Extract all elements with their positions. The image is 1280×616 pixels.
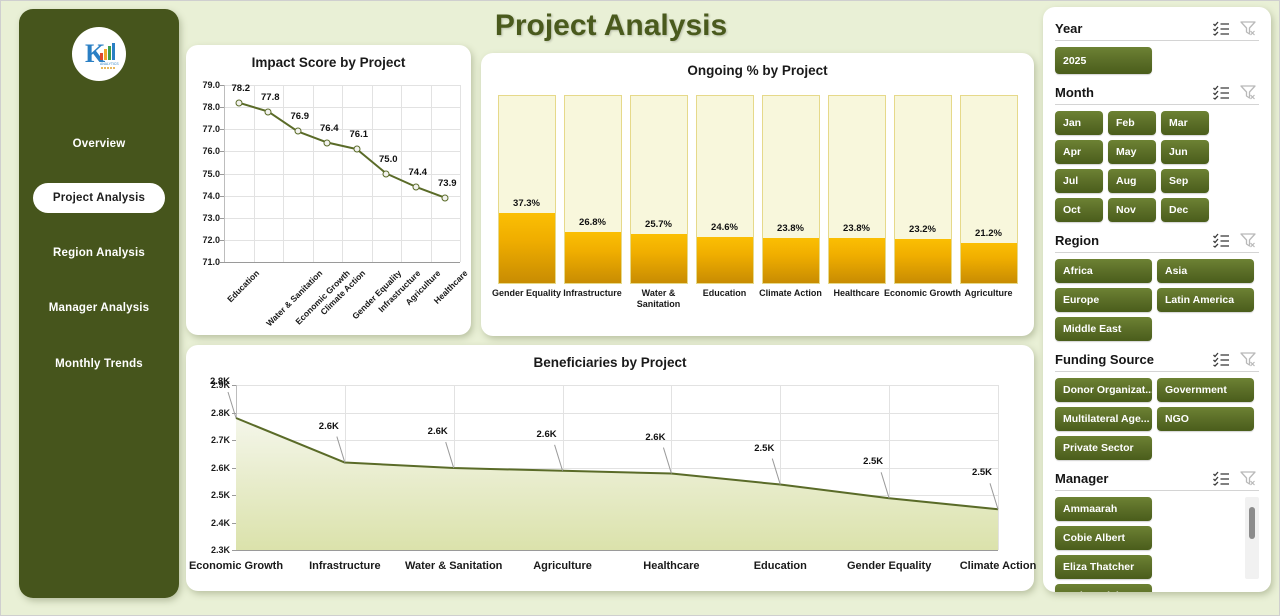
slicer-option-mar[interactable]: Mar [1161,111,1209,135]
slicer-options: AmmaarahCobie AlbertEliza ThatcherKade W… [1055,497,1240,592]
x-axis-category-label: Healthcare [611,560,731,572]
gridline [283,85,284,262]
gridline [236,413,998,414]
slicer-header: Manager [1055,467,1259,489]
clear-filter-icon[interactable] [1240,85,1257,100]
bar-track: 23.8% [762,95,820,284]
slicer-option-sep[interactable]: Sep [1161,169,1209,193]
x-axis-category-label: Economic Growth [176,560,296,572]
sidebar-item-label: Overview [73,138,126,150]
manager-scrollbar[interactable] [1245,497,1259,579]
bar-column: 25.7%Water & Sanitation [630,95,688,284]
x-axis-category-label: Education [225,268,261,304]
slicer-title: Month [1055,85,1213,100]
slicer-options-scroll-wrap: AmmaarahCobie AlbertEliza ThatcherKade W… [1055,497,1259,592]
data-label: 76.1 [350,129,369,140]
gridline [236,440,998,441]
y-axis-tick-label: 77.0 [190,124,220,134]
bar-track: 21.2% [960,95,1018,284]
slicer-options: 2025 [1055,47,1259,74]
bar-value-label: 25.7% [645,219,672,230]
impact-score-chart-card: Impact Score by Project 79.078.077.076.0… [186,45,471,335]
bar-fill [763,238,819,283]
slicer-year: Year2025 [1055,17,1259,74]
slicer-divider [1055,104,1259,105]
bar-track: 25.7% [630,95,688,284]
clear-filter-icon[interactable] [1240,471,1257,486]
slicer-option-may[interactable]: May [1108,140,1156,164]
slicer-title: Year [1055,21,1213,36]
slicer-header: Region [1055,229,1259,251]
x-axis-category-label: Water & Sanitation [394,560,514,572]
clear-filter-icon[interactable] [1240,21,1257,36]
y-axis-tick-label: 74.0 [190,191,220,201]
data-label: 76.9 [291,111,310,122]
sidebar-item-label: Manager Analysis [49,302,150,314]
sidebar-item-overview[interactable]: Overview [33,129,165,159]
clear-filter-icon[interactable] [1240,352,1257,367]
slicer-icon-group [1213,85,1259,100]
sidebar-item-label: Region Analysis [53,247,145,259]
slicer-option-feb[interactable]: Feb [1108,111,1156,135]
data-label: 2.6K [537,429,557,440]
bar-value-label: 26.8% [579,217,606,228]
slicer-option-jul[interactable]: Jul [1055,169,1103,193]
y-axis-tick-label: 2.6K [194,463,230,473]
bar-column: 37.3%Gender Equality [498,95,556,284]
slicer-option-multilateral-age[interactable]: Multilateral Age... [1055,407,1152,431]
sidebar-item-monthly-trends[interactable]: Monthly Trends [33,349,165,379]
sidebar-item-label: Project Analysis [53,192,145,204]
bar-fill [631,234,687,283]
gridline [372,85,373,262]
sidebar: K ANALYTICS Overview Project Analysis Re… [19,9,179,598]
x-axis-category-label: Agriculture [503,560,623,572]
bar-column: 23.8%Climate Action [762,95,820,284]
slicer-funding: Funding SourceDonor Organizat...Governme… [1055,348,1259,460]
y-axis-tick-label: 75.0 [190,169,220,179]
slicer-option-europe[interactable]: Europe [1055,288,1152,312]
multi-select-icon[interactable] [1213,471,1230,486]
bar-value-label: 24.6% [711,222,738,233]
slicer-icon-group [1213,233,1259,248]
sidebar-item-region-analysis[interactable]: Region Analysis [33,238,165,268]
slicer-option-eliza-thatcher[interactable]: Eliza Thatcher [1055,555,1152,579]
clear-filter-icon[interactable] [1240,233,1257,248]
slicer-option-nov[interactable]: Nov [1108,198,1156,222]
beneficiaries-chart-card: Beneficiaries by Project 2.9K2.8K2.7K2.6… [186,345,1034,591]
bar-value-label: 23.8% [777,223,804,234]
y-axis-tick-label: 79.0 [190,80,220,90]
gridline [780,385,781,550]
slicer-option-dec[interactable]: Dec [1161,198,1209,222]
bar-fill [565,232,621,283]
slicer-month: MonthJanFebMarAprMayJunJulAugSepOctNovDe… [1055,81,1259,222]
gridline [342,85,343,262]
bar-fill [829,238,885,283]
page-title: Project Analysis [186,9,1036,43]
gridline [889,385,890,550]
bar-value-label: 23.2% [909,224,936,235]
x-axis-category-label: Gender Equality [829,560,949,572]
multi-select-icon[interactable] [1213,352,1230,367]
bar-fill [961,243,1017,283]
y-axis-line [224,85,225,262]
gridline [236,468,998,469]
bar-column: 26.8%Infrastructure [564,95,622,284]
x-axis-category-label: Agriculture [950,288,1028,299]
bar-column: 23.2%Economic Growth [894,95,952,284]
data-point [235,99,242,106]
y-axis-tick-label: 78.0 [190,102,220,112]
bar-fill [697,237,753,283]
slicer-title: Manager [1055,471,1213,486]
data-point [442,194,449,201]
y-axis-tick-label: 2.4K [194,518,230,528]
sidebar-item-label: Monthly Trends [55,358,143,370]
slicer-option-jun[interactable]: Jun [1161,140,1209,164]
data-point [412,183,419,190]
slicer-icon-group [1213,21,1259,36]
gridline [401,85,402,262]
y-axis-tick-label: 2.8K [194,408,230,418]
dashboard-canvas: K ANALYTICS Overview Project Analysis Re… [0,0,1280,616]
bar-track: 37.3% [498,95,556,284]
gridline [563,385,564,550]
y-axis-tick-label: 72.0 [190,235,220,245]
slicer-icon-group [1213,471,1259,486]
bar-value-label: 23.8% [843,223,870,234]
sidebar-item-manager-analysis[interactable]: Manager Analysis [33,293,165,323]
bar-fill [499,213,555,283]
multi-select-icon[interactable] [1213,21,1230,36]
bar-column: 21.2%Agriculture [960,95,1018,284]
slicer-divider [1055,252,1259,253]
y-axis-line [236,385,237,550]
slicer-option-ngo[interactable]: NGO [1157,407,1254,431]
multi-select-icon[interactable] [1213,85,1230,100]
bar-track: 23.2% [894,95,952,284]
bar-track: 26.8% [564,95,622,284]
slicer-header: Funding Source [1055,348,1259,370]
slicer-option-2025[interactable]: 2025 [1055,47,1152,74]
gridline [345,385,346,550]
data-point [324,139,331,146]
slicer-option-cobie-albert[interactable]: Cobie Albert [1055,526,1152,550]
slicer-options: Donor Organizat...GovernmentMultilateral… [1055,378,1259,460]
slicer-manager: ManagerAmmaarahCobie AlbertEliza Thatche… [1055,467,1259,592]
y-axis-tick-label: 2.7K [194,435,230,445]
gridline [460,85,461,262]
gridline [998,385,999,550]
filter-panel: Year2025MonthJanFebMarAprMayJunJulAugSep… [1043,7,1271,592]
data-label: 77.8 [261,92,280,103]
gridline [671,385,672,550]
x-axis-category-label: Climate Action [938,560,1058,572]
data-point [294,128,301,135]
data-label: 2.5K [754,443,774,454]
bar-track: 24.6% [696,95,754,284]
bar-track: 23.8% [828,95,886,284]
data-point [383,170,390,177]
y-axis-tick-label: 2.5K [194,490,230,500]
slicer-header: Year [1055,17,1259,39]
bar-column: 23.8%Healthcare [828,95,886,284]
data-label: 74.4 [409,167,428,178]
data-label: 2.6K [645,432,665,443]
gridline [236,385,998,386]
slicer-header: Month [1055,81,1259,103]
slicer-option-latin-america[interactable]: Latin America [1157,288,1254,312]
data-label: 78.2 [232,83,251,94]
slicer-option-middle-east[interactable]: Middle East [1055,317,1152,341]
data-point [353,146,360,153]
bar-column: 24.6%Education [696,95,754,284]
slicer-options-area: AmmaarahCobie AlbertEliza ThatcherKade W… [1055,497,1240,592]
data-label: 2.5K [972,467,992,478]
company-logo-icon: K ANALYTICS [72,27,126,81]
bar-value-label: 37.3% [513,198,540,209]
slicer-divider [1055,371,1259,372]
slicer-option-private-sector[interactable]: Private Sector [1055,436,1152,460]
slicer-region: RegionAfricaAsiaEuropeLatin AmericaMiddl… [1055,229,1259,341]
gridline [236,523,998,524]
slicer-divider [1055,490,1259,491]
data-label: 73.9 [438,178,457,189]
gridline [313,85,314,262]
slicer-option-aug[interactable]: Aug [1108,169,1156,193]
slicer-icon-group [1213,352,1259,367]
slicer-divider [1055,40,1259,41]
y-axis-tick-label: 73.0 [190,213,220,223]
x-axis-line [236,550,998,551]
x-axis-line [224,262,460,263]
slicer-title: Region [1055,233,1213,248]
y-axis-tick-label: 76.0 [190,146,220,156]
slicer-option-government[interactable]: Government [1157,378,1254,402]
multi-select-icon[interactable] [1213,233,1230,248]
slicer-options: JanFebMarAprMayJunJulAugSepOctNovDec [1055,111,1259,222]
bar-fill [895,239,951,283]
sidebar-item-project-analysis[interactable]: Project Analysis [33,183,165,213]
slicer-option-kade-welch[interactable]: Kade Welch [1055,584,1152,592]
slicer-option-oct[interactable]: Oct [1055,198,1103,222]
x-axis-category-label: Infrastructure [285,560,405,572]
y-axis-tick-label: 2.3K [194,545,230,555]
slicer-options: AfricaAsiaEuropeLatin AmericaMiddle East [1055,259,1259,341]
slicer-title: Funding Source [1055,352,1213,367]
gridline [236,495,998,496]
gridline [254,85,255,262]
data-label: 2.5K [863,456,883,467]
slicer-option-jan[interactable]: Jan [1055,111,1103,135]
x-axis-category-label: Education [720,560,840,572]
y-axis-tick-label: 71.0 [190,257,220,267]
bar-value-label: 21.2% [975,228,1002,239]
data-label: 2.6K [319,421,339,432]
gridline [431,85,432,262]
scrollbar-thumb[interactable] [1249,507,1255,539]
slicer-option-africa[interactable]: Africa [1055,259,1152,283]
slicer-option-donor-organizat[interactable]: Donor Organizat... [1055,378,1152,402]
slicer-option-ammaarah[interactable]: Ammaarah [1055,497,1152,521]
svg-text:ANALYTICS: ANALYTICS [100,62,119,66]
data-label: 2.6K [428,426,448,437]
slicer-option-asia[interactable]: Asia [1157,259,1254,283]
data-label: 2.8K [210,376,230,387]
gridline [454,385,455,550]
slicer-option-apr[interactable]: Apr [1055,140,1103,164]
data-label: 76.4 [320,123,339,134]
ongoing-pct-chart-card: Ongoing % by Project 37.3%Gender Equalit… [481,53,1034,336]
data-label: 75.0 [379,154,398,165]
data-point [265,108,272,115]
